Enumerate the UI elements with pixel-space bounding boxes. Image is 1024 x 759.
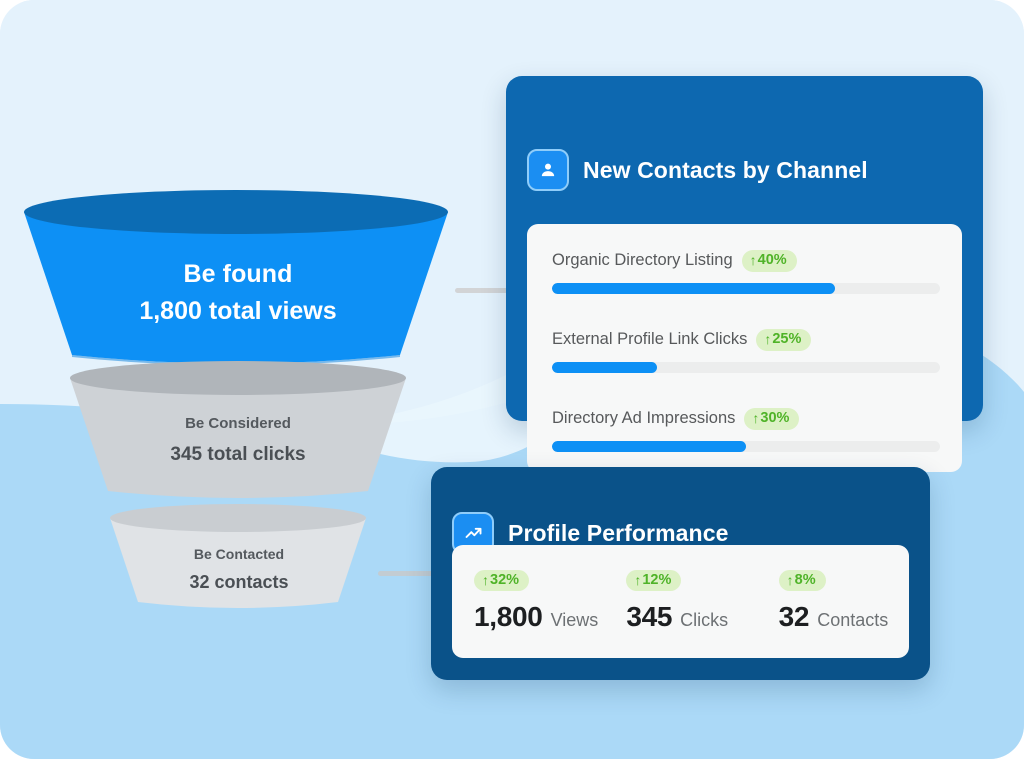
channel-name: External Profile Link Clicks [552,330,747,349]
arrow-up-icon: ↑ [482,573,489,587]
channel-delta-badge: ↑30% [744,408,799,430]
channel-row-header: Organic Directory Listing ↑40% [552,250,940,272]
arrow-up-icon: ↑ [750,253,757,267]
channel-delta-value: 25% [772,332,801,347]
contacts-card-header: New Contacts by Channel [527,149,868,191]
stat-value: 345 [626,601,672,633]
funnel-stage-2 [70,361,406,498]
stat-line: 1,800 Views [474,601,604,633]
arrow-up-icon: ↑ [764,332,771,346]
channel-progress-fill [552,441,746,452]
channel-name: Directory Ad Impressions [552,409,735,428]
channel-delta-badge: ↑25% [756,329,811,351]
channel-progress-track [552,283,940,294]
arrow-up-icon: ↑ [634,573,641,587]
stat-delta-value: 12% [642,573,671,588]
channel-name: Organic Directory Listing [552,251,733,270]
performance-card-title: Profile Performance [508,520,728,547]
channel-row: External Profile Link Clicks ↑25% [552,329,940,373]
arrow-up-icon: ↑ [787,573,794,587]
stat-views: ↑32% 1,800 Views [452,570,604,634]
stat-clicks: ↑12% 345 Clicks [604,570,756,634]
channel-row: Organic Directory Listing ↑40% [552,250,940,294]
channel-row: Directory Ad Impressions ↑30% [552,408,940,452]
funnel-stage-1-body [24,212,448,364]
stat-delta-value: 32% [490,573,519,588]
profile-performance-card: Profile Performance ↑32% 1,800 Views ↑12… [431,467,930,680]
contacts-card-body: Organic Directory Listing ↑40% External … [527,224,962,472]
funnel-stage-2-rim [70,361,406,395]
funnel-stage-3-rim [110,504,366,532]
stat-line: 345 Clicks [626,601,756,633]
channel-progress-track [552,362,940,373]
stat-label: Views [551,610,599,631]
arrow-up-icon: ↑ [752,411,759,425]
stat-label: Clicks [680,610,728,631]
channel-delta-value: 40% [758,253,787,268]
new-contacts-by-channel-card: New Contacts by Channel Organic Director… [506,76,983,421]
funnel-stage-1-rim [24,190,448,234]
stat-value: 32 [779,601,810,633]
stat-value: 1,800 [474,601,543,633]
stat-line: 32 Contacts [779,601,909,633]
contacts-card-title: New Contacts by Channel [583,157,868,184]
person-icon [527,149,569,191]
stat-delta-value: 8% [795,573,816,588]
funnel-stage-2-body [70,378,406,498]
stat-label: Contacts [817,610,888,631]
stat-delta-badge: ↑12% [626,570,681,592]
channel-progress-fill [552,362,657,373]
funnel-stage-1 [24,190,448,366]
channel-row-header: Directory Ad Impressions ↑30% [552,408,940,430]
funnel-stage-3 [110,504,366,608]
performance-card-body: ↑32% 1,800 Views ↑12% 345 Clicks ↑8% [452,545,909,658]
channel-delta-value: 30% [760,411,789,426]
stat-delta-badge: ↑8% [779,570,826,592]
channel-progress-fill [552,283,835,294]
channel-progress-track [552,441,940,452]
stat-delta-badge: ↑32% [474,570,529,592]
stat-contacts: ↑8% 32 Contacts [757,570,909,634]
channel-row-header: External Profile Link Clicks ↑25% [552,329,940,351]
illustration-canvas: Be found 1,800 total views Be Considered… [0,0,1024,759]
channel-delta-badge: ↑40% [742,250,797,272]
